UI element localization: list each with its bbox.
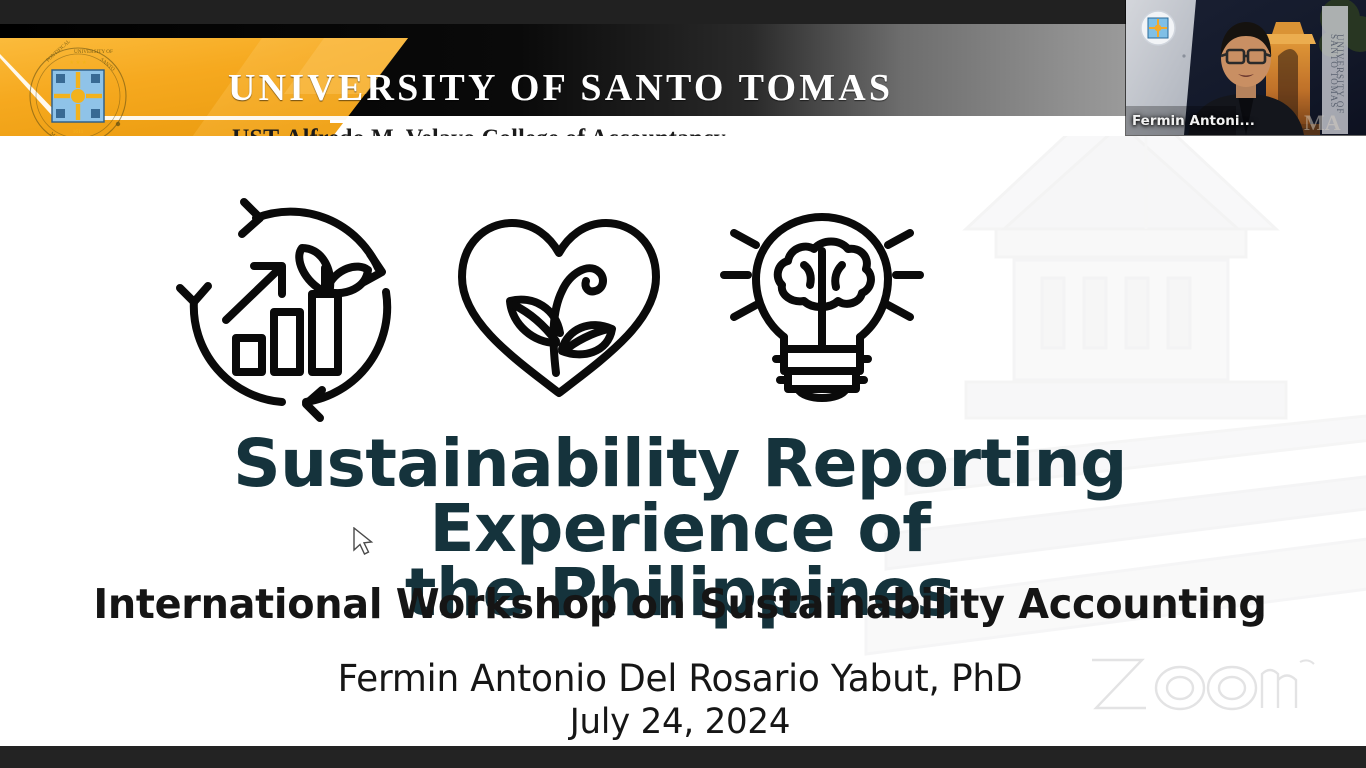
icon-row bbox=[0, 184, 1100, 434]
institution-name: UNIVERSITY OF SANTO TOMAS bbox=[228, 66, 893, 110]
svg-text:1611: 1611 bbox=[73, 129, 84, 135]
video-seal bbox=[1141, 11, 1175, 45]
presenter-name: Fermin Antonio Del Rosario Yabut, PhD bbox=[79, 657, 1282, 700]
lightbulb-brain-icon bbox=[718, 209, 926, 409]
slide-subtitle: International Workshop on Sustainability… bbox=[79, 580, 1282, 628]
svg-text:UNIVERSITY OF: UNIVERSITY OF bbox=[74, 49, 113, 55]
svg-text:SANTO TOMAS: SANTO TOMAS bbox=[1329, 34, 1339, 108]
window-bottom-bar bbox=[0, 746, 1366, 768]
title-line-1: Sustainability Reporting Experience of bbox=[233, 425, 1127, 567]
participant-name-label: Fermin Antoni... bbox=[1132, 113, 1255, 129]
sustainable-growth-icon bbox=[174, 196, 400, 422]
participant-video-tile[interactable]: UNIVERSITY OF SANTO TOMAS MA bbox=[1126, 0, 1366, 135]
heart-plant-icon bbox=[452, 209, 666, 409]
presentation-date: July 24, 2024 bbox=[79, 702, 1282, 742]
svg-text:MA: MA bbox=[1304, 110, 1341, 135]
svg-text:★ ★ ★: ★ ★ ★ bbox=[69, 59, 87, 66]
college-name: UST-Alfredo M. Velayo College of Account… bbox=[232, 125, 726, 136]
zoom-screen-share-window: ★ ★ ★ 1611 PONTIFICAL UNIVERSITY OF SANT… bbox=[0, 0, 1366, 768]
